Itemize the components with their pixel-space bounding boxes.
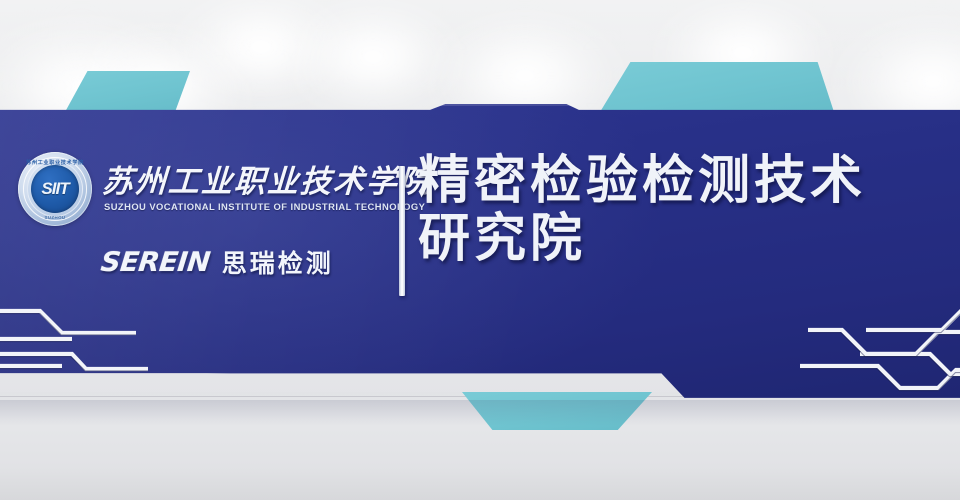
school-name-cn: 苏州工业职业技术学院 — [101, 166, 433, 199]
partner-name-en: SEREIN — [99, 247, 211, 278]
headline-line-1: 精密检验检测技术 — [418, 152, 952, 210]
school-emblem-icon: 苏州工业职业技术学院 SIIT SUZHOU — [18, 152, 92, 226]
emblem-arc-text-bottom: SUZHOU — [18, 215, 92, 220]
headline-line-2: 研究院 — [418, 210, 952, 268]
school-identity-row: 苏州工业职业技术学院 SIIT SUZHOU 苏州工业职业技术学院 SUZHOU… — [18, 152, 390, 226]
brand-block: 苏州工业职业技术学院 SIIT SUZHOU 苏州工业职业技术学院 SUZHOU… — [18, 152, 390, 280]
institute-headline: 精密检验检测技术 研究院 — [418, 152, 952, 268]
panel-content: 苏州工业职业技术学院 SIIT SUZHOU 苏州工业职业技术学院 SUZHOU… — [0, 104, 960, 400]
wall-signage-scene: 苏州工业职业技术学院 SIIT SUZHOU 苏州工业职业技术学院 SUZHOU… — [0, 0, 960, 500]
school-names: 苏州工业职业技术学院 SUZHOU VOCATIONAL INSTITUTE O… — [102, 166, 432, 212]
school-name-en: SUZHOU VOCATIONAL INSTITUTE OF INDUSTRIA… — [102, 201, 432, 212]
partner-name-cn: 思瑞检测 — [222, 244, 334, 280]
emblem-monogram: SIIT — [18, 179, 92, 199]
vertical-separator-bar — [399, 166, 405, 296]
partner-brand-row: SEREIN 思瑞检测 — [18, 244, 390, 280]
